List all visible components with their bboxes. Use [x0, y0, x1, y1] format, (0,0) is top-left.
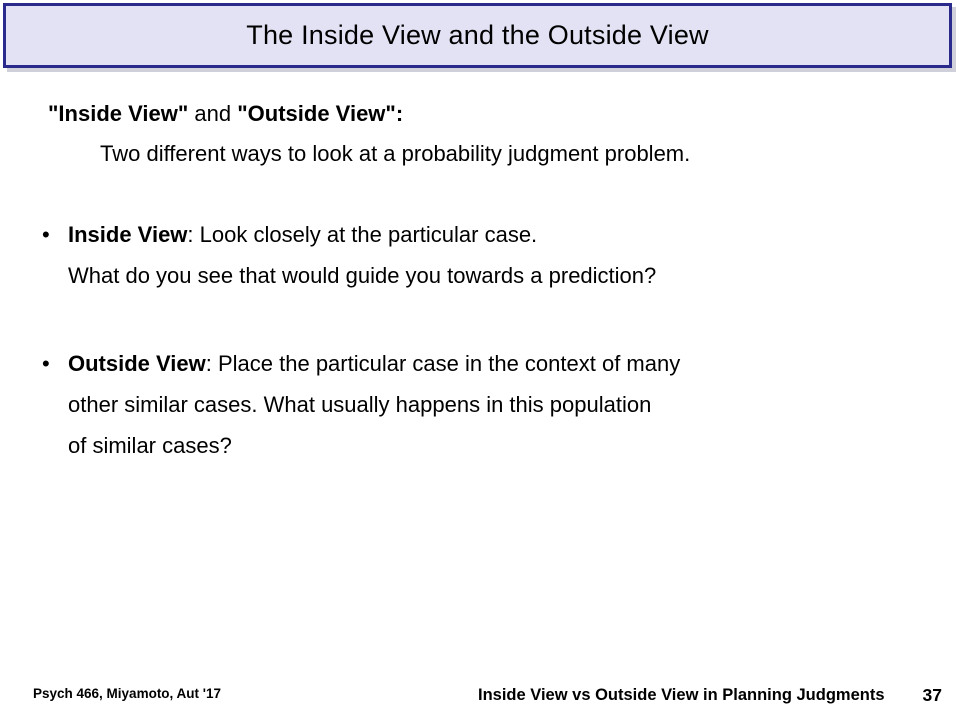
intro-heading-line: "Inside View" and "Outside View":	[0, 100, 960, 128]
slide-title-bar: The Inside View and the Outside View	[3, 3, 952, 68]
bullet-body-text: Place the particular case in the context…	[218, 351, 680, 376]
inside-view-term: "Inside View"	[48, 101, 188, 126]
bullet-label-outside-view: Outside View	[68, 351, 206, 376]
bullet-label-inside-view: Inside View	[68, 222, 187, 247]
bullet-label-separator: :	[206, 351, 218, 376]
intro-block: "Inside View" and "Outside View": Two di…	[0, 100, 960, 168]
bullet-continuation-line-2: of similar cases?	[42, 431, 960, 461]
intro-colon: :	[396, 101, 403, 126]
intro-conjunction: and	[188, 101, 237, 126]
footer-section-title: Inside View vs Outside View in Planning …	[478, 684, 885, 706]
outside-view-term: "Outside View"	[237, 101, 396, 126]
bullet-row: • Outside View: Place the particular cas…	[42, 349, 960, 379]
bullet-text: Outside View: Place the particular case …	[68, 349, 960, 379]
bullet-body-text: Look closely at the particular case.	[200, 222, 538, 247]
bullet-text: Inside View: Look closely at the particu…	[68, 220, 960, 250]
bullet-marker-icon: •	[42, 349, 68, 379]
bullet-continuation-line: What do you see that would guide you tow…	[42, 261, 960, 291]
page-title: The Inside View and the Outside View	[246, 21, 708, 51]
footer-page-number: 37	[923, 684, 942, 706]
bullet-row: • Inside View: Look closely at the parti…	[42, 220, 960, 250]
intro-subline: Two different ways to look at a probabil…	[0, 140, 960, 168]
bullet-label-separator: :	[187, 222, 199, 247]
bullet-outside-view: • Outside View: Place the particular cas…	[0, 349, 960, 461]
slide-body: "Inside View" and "Outside View": Two di…	[0, 100, 960, 461]
bullet-inside-view: • Inside View: Look closely at the parti…	[0, 220, 960, 291]
bullet-continuation-line: other similar cases. What usually happen…	[42, 390, 960, 420]
slide-footer: Psych 466, Miyamoto, Aut '17 Inside View…	[0, 682, 960, 704]
bullet-marker-icon: •	[42, 220, 68, 250]
footer-course-info: Psych 466, Miyamoto, Aut '17	[33, 684, 221, 704]
